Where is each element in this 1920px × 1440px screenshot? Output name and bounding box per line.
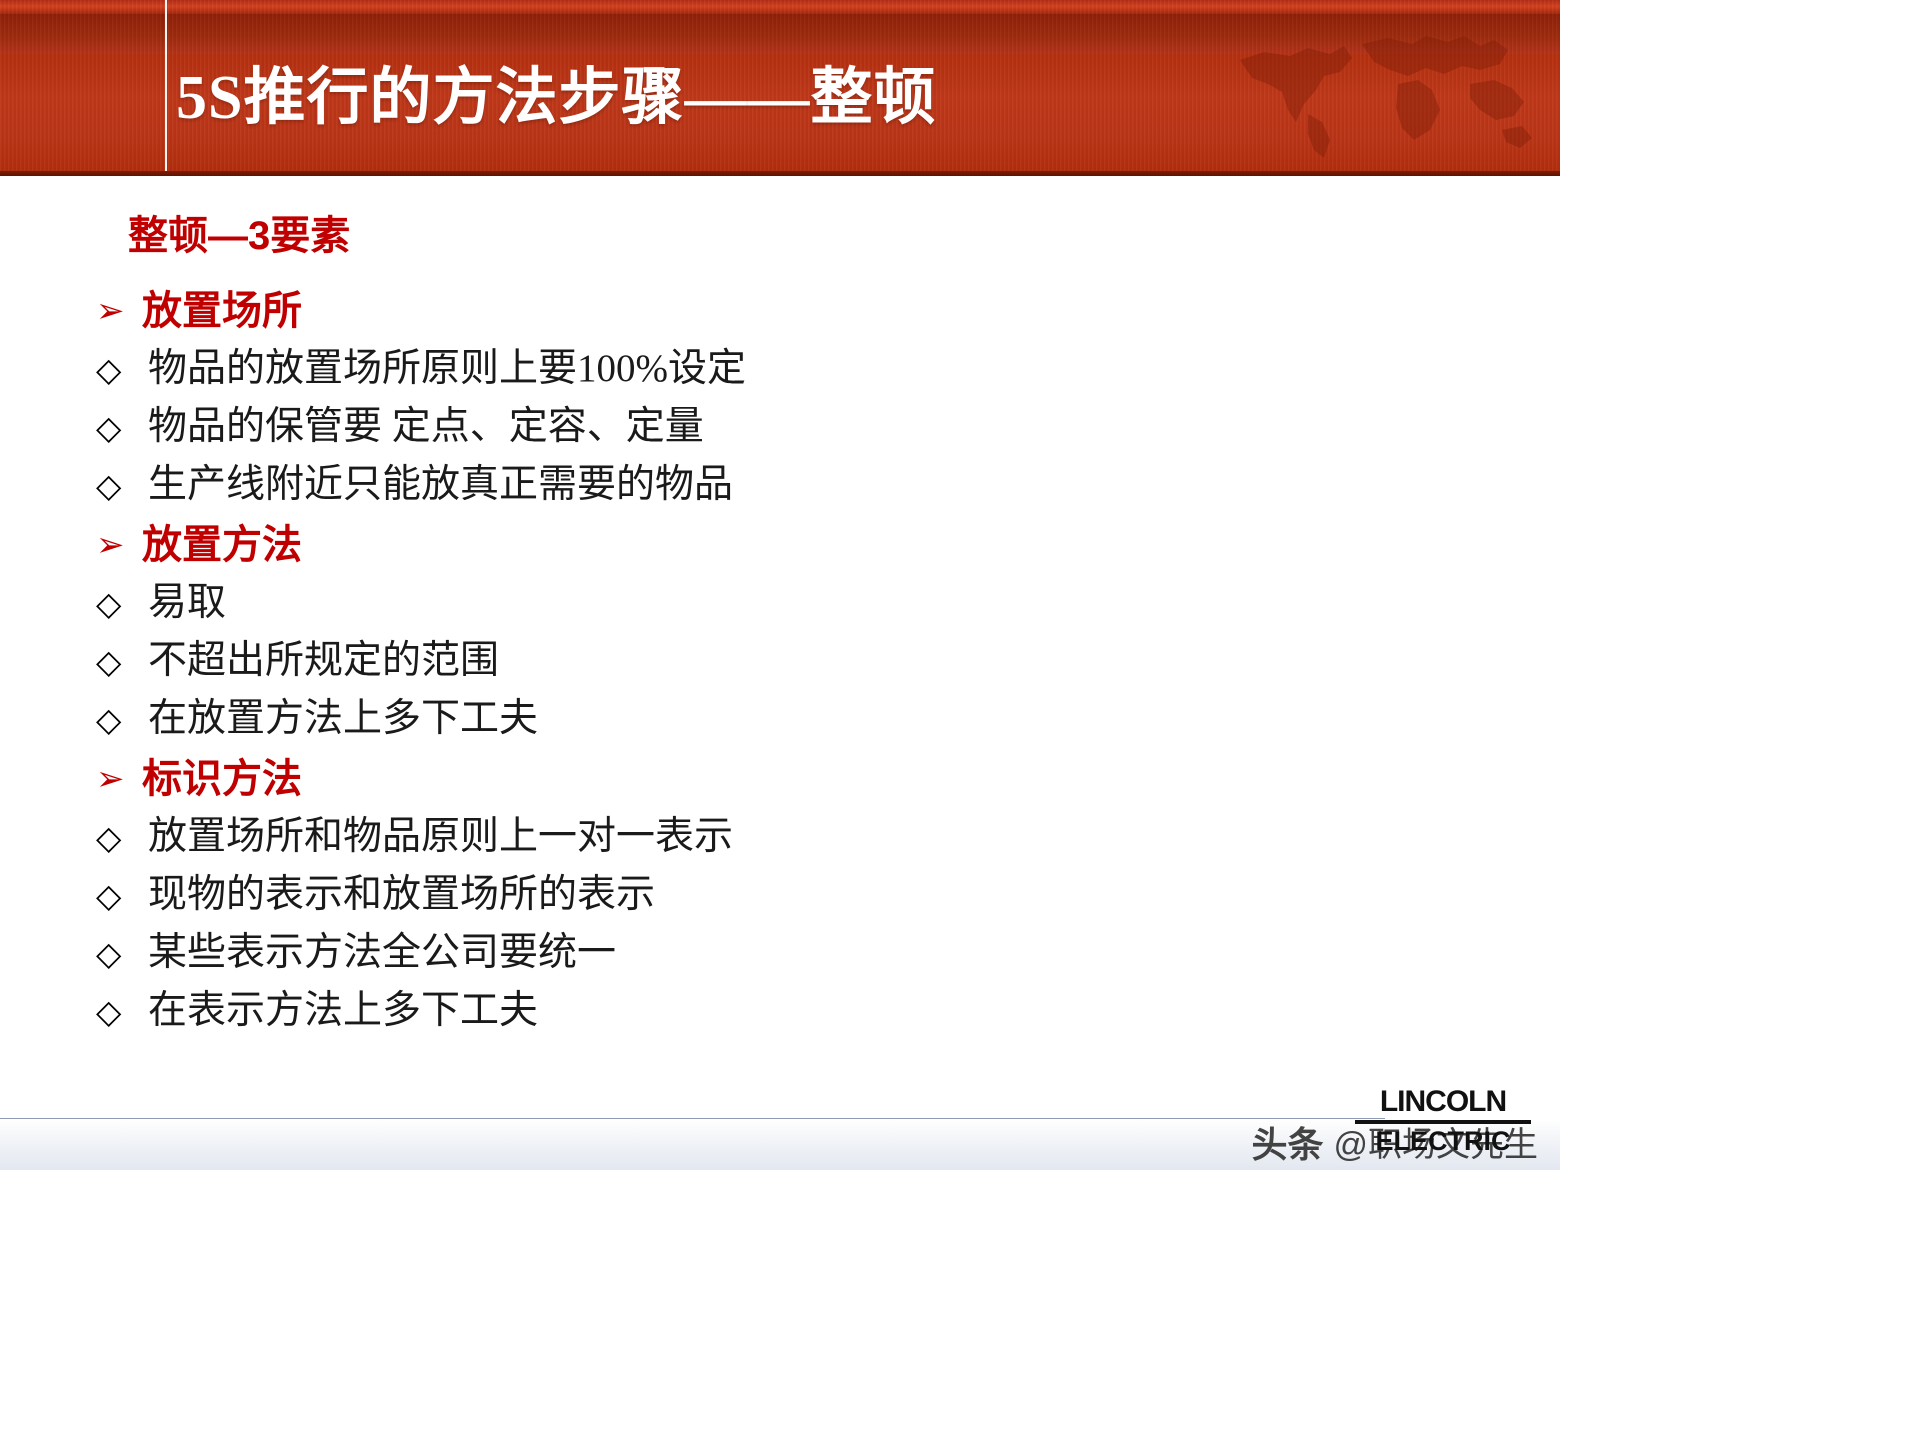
list-item-label: 生产线附近只能放真正需要的物品 [148,456,733,513]
arrow-bullet-icon: ➢ [96,752,142,806]
list-item-label: 物品的保管要 定点、定容、定量 [148,398,704,455]
list-item: ◇ 现物的表示和放置场所的表示 [96,866,1456,924]
diamond-bullet-icon: ◇ [96,809,148,866]
list-item-label: 易取 [148,574,226,631]
slide-footer: 头条 @职场文先生 LINCOLN ELECTRIC [0,1096,1560,1170]
list-item-label: 某些表示方法全公司要统一 [148,924,616,981]
diamond-bullet-icon: ◇ [96,925,148,982]
arrow-bullet-icon: ➢ [96,518,142,572]
header-divider-line [165,0,167,176]
list-item: ◇ 易取 [96,574,1456,632]
section-labeling-method: ➢ 标识方法 ◇ 放置场所和物品原则上一对一表示 ◇ 现物的表示和放置场所的表示… [96,752,1456,1040]
list-item: ◇ 放置场所和物品原则上一对一表示 [96,808,1456,866]
list-item-label: 不超出所规定的范围 [148,632,499,689]
footer-divider-line [0,1118,1385,1119]
slide-body: 整顿—3要素 ➢ 放置场所 ◇ 物品的放置场所原则上要100%设定 ◇ 物品的保… [0,176,1560,1096]
list-item: ◇ 生产线附近只能放真正需要的物品 [96,456,1456,514]
diamond-bullet-icon: ◇ [96,691,148,748]
diamond-bullet-icon: ◇ [96,867,148,924]
list-item: ◇ 在表示方法上多下工夫 [96,982,1456,1040]
section-heading-label: 标识方法 [142,752,302,806]
diamond-bullet-icon: ◇ [96,341,148,398]
list-item-label: 放置场所和物品原则上一对一表示 [148,808,733,865]
list-item: ◇ 物品的保管要 定点、定容、定量 [96,398,1456,456]
list-item: ◇ 不超出所规定的范围 [96,632,1456,690]
list-item-label: 现物的表示和放置场所的表示 [148,866,655,923]
subtitle: 整顿—3要素 [128,212,350,260]
section-heading-label: 放置场所 [142,284,302,338]
list-item-label: 在放置方法上多下工夫 [148,690,538,747]
slide-root: 5S推行的方法步骤——整顿 整顿—3要素 ➢ 放置场所 ◇ 物品的放置场所原则上… [0,0,1560,1170]
arrow-bullet-icon: ➢ [96,284,142,338]
page-title: 5S推行的方法步骤——整顿 [176,62,936,134]
header-dark-band [0,14,1560,54]
diamond-bullet-icon: ◇ [96,575,148,632]
diamond-bullet-icon: ◇ [96,983,148,1040]
slide-header: 5S推行的方法步骤——整顿 [0,0,1560,176]
section-heading: ➢ 放置方法 [96,518,1456,572]
watermark: 头条 @职场文先生 [1251,1124,1538,1166]
section-heading: ➢ 标识方法 [96,752,1456,806]
section-heading-label: 放置方法 [142,518,302,572]
list-item-label: 物品的放置场所原则上要100%设定 [148,340,746,397]
section-heading: ➢ 放置场所 [96,284,1456,338]
content-list: ➢ 放置场所 ◇ 物品的放置场所原则上要100%设定 ◇ 物品的保管要 定点、定… [96,284,1456,1040]
diamond-bullet-icon: ◇ [96,633,148,690]
list-item: ◇ 某些表示方法全公司要统一 [96,924,1456,982]
list-item: ◇ 物品的放置场所原则上要100%设定 [96,340,1456,398]
diamond-bullet-icon: ◇ [96,457,148,514]
list-item-label: 在表示方法上多下工夫 [148,982,538,1039]
section-placement-method: ➢ 放置方法 ◇ 易取 ◇ 不超出所规定的范围 ◇ 在放置方法上多下工夫 [96,518,1456,748]
section-placement-location: ➢ 放置场所 ◇ 物品的放置场所原则上要100%设定 ◇ 物品的保管要 定点、定… [96,284,1456,514]
header-top-strip [0,0,1560,14]
diamond-bullet-icon: ◇ [96,399,148,456]
list-item: ◇ 在放置方法上多下工夫 [96,690,1456,748]
watermark-source-label: 头条 [1251,1124,1323,1166]
watermark-handle-label: @职场文先生 [1333,1124,1538,1166]
